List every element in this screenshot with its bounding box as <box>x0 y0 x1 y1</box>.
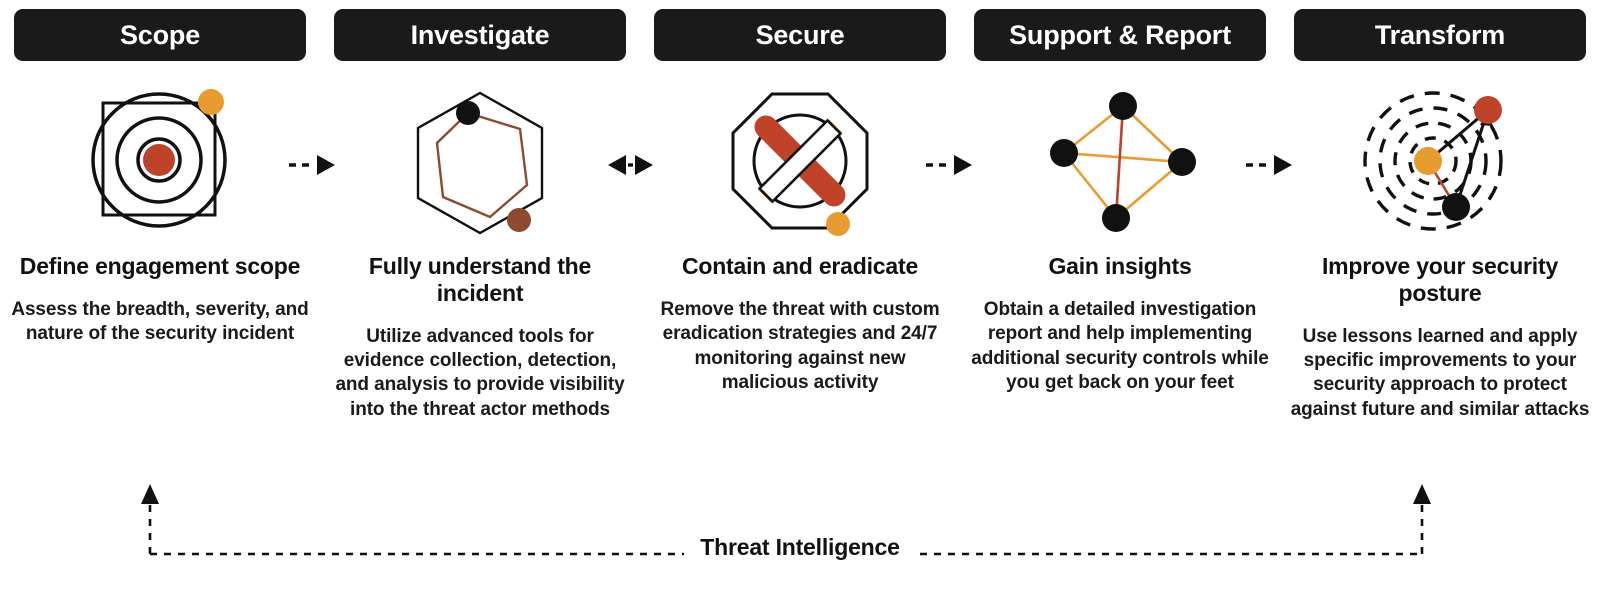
network-nodes-icon <box>960 81 1280 241</box>
process-stages: Scope Define engagement scope Assess the… <box>0 0 1600 422</box>
stage-support-report[interactable]: Support & Report Gain insights Obtain a … <box>960 0 1280 395</box>
stage-title: Gain insights <box>1048 253 1191 280</box>
stage-header-pill-scope[interactable]: Scope <box>14 9 306 61</box>
loop-arrowhead-right <box>1413 484 1431 504</box>
stage-header-pill-investigate[interactable]: Investigate <box>334 9 626 61</box>
stage-description: Obtain a detailed investigation report a… <box>970 298 1270 395</box>
loop-arrowhead-left <box>141 484 159 504</box>
stage-title: Define engagement scope <box>20 253 300 280</box>
threat-intelligence-label-text: Threat Intelligence <box>684 534 915 560</box>
stage-pill-label: Transform <box>1375 22 1505 49</box>
octagon-crossed-icon <box>640 81 960 241</box>
target-concentric-icon <box>0 81 320 241</box>
arrow-support-to-transform <box>1240 150 1300 180</box>
stage-header-pill-transform[interactable]: Transform <box>1294 9 1586 61</box>
stage-description: Use lessons learned and apply specific i… <box>1290 325 1590 422</box>
radar-dashed-icon <box>1280 81 1600 241</box>
stage-description: Remove the threat with custom eradicatio… <box>650 298 950 395</box>
arrow-investigate-to-secure <box>600 150 660 180</box>
stage-header-pill-secure[interactable]: Secure <box>654 9 946 61</box>
stage-description: Assess the breadth, severity, and nature… <box>10 298 310 347</box>
stage-title: Contain and eradicate <box>682 253 918 280</box>
stage-description: Utilize advanced tools for evidence coll… <box>330 325 630 422</box>
arrow-scope-to-investigate <box>283 150 343 180</box>
stage-transform[interactable]: Transform Improve your security posture <box>1280 0 1600 422</box>
stage-secure[interactable]: Secure Contain and eradicate Remove <box>640 0 960 395</box>
stage-pill-label: Scope <box>120 22 200 49</box>
stage-investigate[interactable]: Investigate Fully understand the inciden… <box>320 0 640 422</box>
stage-pill-label: Support & Report <box>1009 22 1231 49</box>
arrow-secure-to-support <box>920 150 980 180</box>
stage-pill-label: Investigate <box>411 22 550 49</box>
stage-title: Fully understand the incident <box>330 253 630 307</box>
stage-scope[interactable]: Scope Define engagement scope Assess the… <box>0 0 320 347</box>
stage-pill-label: Secure <box>756 22 845 49</box>
hexagon-nested-icon <box>320 81 640 241</box>
stage-header-pill-support-report[interactable]: Support & Report <box>974 9 1266 61</box>
threat-intelligence-label: Threat Intelligence <box>0 534 1600 561</box>
stage-title: Improve your security posture <box>1290 253 1590 307</box>
